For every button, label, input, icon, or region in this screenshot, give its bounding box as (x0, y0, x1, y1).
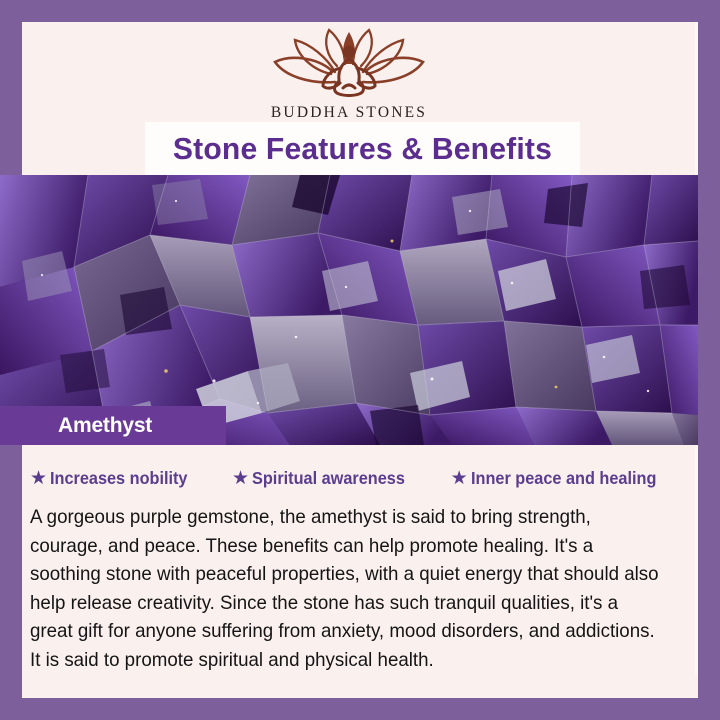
hero-image (0, 175, 698, 445)
amethyst-crystal-graphic (0, 175, 698, 445)
stone-name: Amethyst (58, 414, 152, 438)
benefit-label-2: Spiritual awareness (252, 468, 405, 489)
page-title: Stone Features & Benefits (173, 131, 552, 167)
benefit-label-1: Increases nobility (50, 468, 187, 489)
poster-content: BUDDHA STONES Stone Features & Benefits (0, 0, 720, 720)
benefit-item-2: ★ Spiritual awareness (232, 468, 416, 489)
benefit-label-3: Inner peace and healing (471, 468, 656, 489)
star-icon: ★ (30, 469, 47, 488)
stone-description: A gorgeous purple gemstone, the amethyst… (30, 503, 666, 674)
benefits-row: ★ Increases nobility ★ Spiritual awarene… (30, 468, 670, 489)
brand-name: BUDDHA STONES (0, 104, 698, 122)
star-icon: ★ (232, 469, 249, 488)
stone-label-bar: Amethyst (0, 406, 226, 445)
benefit-item-1: ★ Increases nobility (30, 468, 198, 489)
poster-root: BUDDHA STONES Stone Features & Benefits (0, 0, 720, 720)
title-band: Stone Features & Benefits (145, 122, 580, 175)
star-icon: ★ (451, 469, 468, 488)
lotus-meditation-icon (265, 26, 433, 100)
benefit-item-3: ★ Inner peace and healing (451, 468, 670, 489)
brand-logo: BUDDHA STONES (0, 26, 698, 122)
